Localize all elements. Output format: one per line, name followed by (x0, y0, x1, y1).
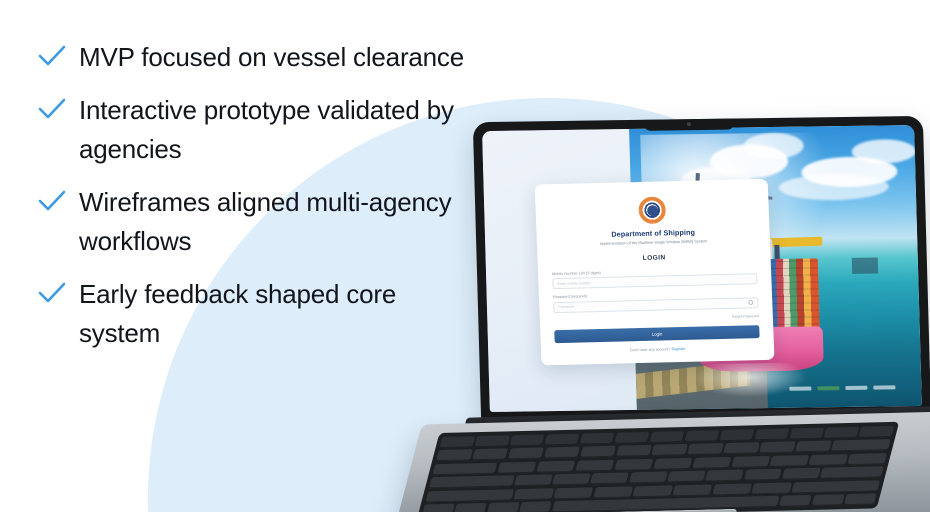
key-fn[interactable] (422, 504, 455, 512)
key-shift-right[interactable] (791, 480, 880, 493)
key[interactable] (614, 459, 653, 471)
key[interactable] (712, 483, 752, 495)
register-prompt: Don't have any account? (630, 347, 671, 352)
key-arrows[interactable] (844, 493, 877, 505)
key-capslock[interactable] (429, 475, 514, 488)
key[interactable] (859, 426, 894, 438)
key[interactable] (514, 475, 553, 487)
key[interactable] (472, 449, 508, 461)
eye-icon[interactable] (748, 300, 753, 305)
password-input-placeholder: Password (558, 305, 574, 309)
check-icon (38, 45, 66, 75)
key[interactable] (615, 445, 651, 457)
register-row: Don't have any account? Register (555, 345, 760, 354)
key[interactable] (809, 454, 848, 466)
cloud (743, 132, 804, 159)
list-item-label: Wireframes aligned multi-agency workflow… (79, 183, 468, 261)
key[interactable] (795, 441, 831, 453)
key[interactable] (824, 427, 859, 439)
key[interactable] (782, 468, 821, 480)
footer-link[interactable] (790, 387, 812, 391)
key[interactable] (474, 435, 509, 447)
key[interactable] (672, 484, 712, 496)
key[interactable] (579, 433, 614, 445)
key[interactable] (614, 432, 649, 444)
cloud (779, 173, 890, 201)
key-command[interactable] (519, 501, 552, 512)
key[interactable] (719, 429, 754, 441)
page-footer-links[interactable] (790, 385, 896, 390)
check-icon (38, 282, 66, 312)
key-option-right[interactable] (811, 494, 844, 506)
key[interactable] (731, 456, 770, 468)
key[interactable] (593, 486, 633, 498)
key[interactable] (439, 436, 474, 448)
cloud (852, 139, 917, 164)
key[interactable] (553, 487, 593, 499)
key[interactable] (536, 461, 575, 473)
key[interactable] (436, 450, 472, 462)
laptop-screen: Department of Shipping Implementation of… (482, 125, 922, 412)
mobile-input-placeholder: Enter mobile number (557, 281, 591, 286)
laptop-base (392, 411, 930, 512)
list-item: Early feedback shaped core system (38, 275, 468, 353)
water-wake (693, 363, 808, 398)
keyboard[interactable] (417, 422, 899, 512)
webcam-icon (687, 122, 691, 126)
password-input[interactable]: Password (553, 297, 759, 313)
key-return[interactable] (820, 466, 884, 479)
key[interactable] (544, 447, 580, 459)
key-option[interactable] (487, 502, 520, 512)
forgot-password-link[interactable]: Forgot Password (554, 314, 759, 323)
key[interactable] (743, 469, 782, 481)
register-link[interactable]: Register (671, 347, 685, 351)
key[interactable] (514, 488, 554, 500)
key[interactable] (848, 453, 887, 465)
key-backspace[interactable] (831, 439, 891, 451)
footer-link[interactable] (846, 386, 868, 390)
key-control[interactable] (454, 503, 487, 512)
list-item: Interactive prototype validated by agenc… (38, 91, 468, 169)
distant-rig (852, 258, 878, 274)
key[interactable] (633, 485, 673, 497)
login-button[interactable]: Login (554, 325, 760, 343)
mobile-number-input[interactable]: Enter mobile number (552, 274, 758, 290)
list-item: Wireframes aligned multi-agency workflow… (38, 183, 468, 261)
key[interactable] (667, 471, 706, 483)
key[interactable] (759, 442, 795, 454)
key[interactable] (684, 430, 719, 442)
login-card: Department of Shipping Implementation of… (534, 179, 774, 365)
department-emblem-icon (638, 197, 666, 225)
key[interactable] (752, 482, 792, 494)
footer-link[interactable] (818, 386, 840, 390)
key-command-right[interactable] (779, 495, 812, 507)
key-tab[interactable] (432, 462, 497, 475)
slide-canvas: MVP focused on vessel clearance Interact… (0, 0, 930, 512)
key[interactable] (509, 434, 544, 446)
key[interactable] (754, 428, 789, 440)
key[interactable] (575, 460, 614, 472)
feature-bullet-list: MVP focused on vessel clearance Interact… (38, 38, 468, 367)
key[interactable] (508, 448, 544, 460)
key[interactable] (629, 472, 668, 484)
check-icon (38, 190, 66, 220)
key[interactable] (497, 461, 536, 473)
laptop-mockup: Department of Shipping Implementation of… (455, 105, 930, 512)
key[interactable] (649, 431, 684, 443)
login-heading: LOGIN (551, 252, 756, 264)
key-shift[interactable] (425, 489, 514, 502)
key[interactable] (544, 434, 579, 446)
footer-link[interactable] (874, 385, 896, 389)
laptop-lid: Department of Shipping Implementation of… (473, 116, 930, 422)
list-item-label: Early feedback shaped core system (79, 275, 468, 353)
list-item-label: Interactive prototype validated by agenc… (79, 91, 468, 169)
key[interactable] (580, 446, 616, 458)
key[interactable] (789, 428, 824, 440)
key[interactable] (687, 444, 723, 456)
list-item-label: MVP focused on vessel clearance (79, 38, 464, 77)
key[interactable] (705, 470, 744, 482)
list-item: MVP focused on vessel clearance (38, 38, 468, 77)
key[interactable] (770, 455, 809, 467)
key[interactable] (590, 473, 629, 485)
key[interactable] (723, 443, 759, 455)
key[interactable] (692, 457, 731, 469)
key[interactable] (651, 444, 687, 456)
key[interactable] (552, 474, 591, 486)
check-icon (38, 98, 66, 128)
key[interactable] (653, 458, 692, 470)
